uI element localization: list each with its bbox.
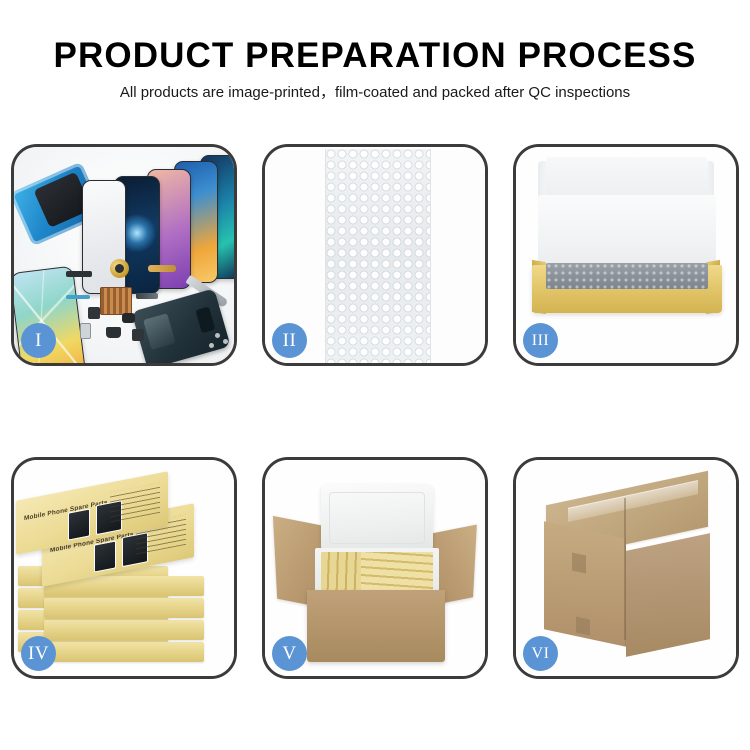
spare-part-screw-2	[223, 339, 228, 344]
spare-part-strip	[66, 271, 92, 277]
process-step-card-2[interactable]: II	[262, 144, 488, 366]
process-step-card-3[interactable]: III	[513, 144, 739, 366]
carton-mark-upper	[572, 553, 586, 574]
spare-part-coil	[110, 259, 129, 278]
spare-part-flex-cable	[148, 265, 176, 272]
box-lid-front	[538, 195, 716, 273]
carton-side-face	[626, 533, 710, 657]
step-badge-1: I	[21, 323, 56, 358]
spare-part-camera	[122, 313, 135, 323]
gray-foam-padding	[546, 263, 708, 289]
carton-body	[307, 590, 445, 662]
foam-lid	[321, 484, 433, 552]
box-art-thumbnail	[68, 508, 90, 540]
step-badge-5: V	[272, 636, 307, 671]
spare-part-button-2	[132, 329, 144, 341]
step-badge-2: II	[272, 323, 307, 358]
process-step-card-1[interactable]: I	[11, 144, 237, 366]
box-spec-text-lines	[110, 483, 160, 523]
page-title: PRODUCT PREPARATION PROCESS	[0, 36, 750, 76]
yellow-boxes-row-b	[361, 552, 433, 590]
spare-part-speaker	[106, 327, 121, 338]
process-step-card-5[interactable]: V	[262, 457, 488, 679]
spare-part-connector-flex	[136, 293, 158, 299]
phone-back-housing	[131, 288, 230, 363]
carton-corner-seam	[624, 498, 626, 640]
spare-part-ribbon-cable	[66, 295, 90, 299]
spare-part-chip-grid	[100, 287, 132, 315]
carton-mark-lower	[576, 617, 590, 636]
step-badge-3: III	[523, 323, 558, 358]
process-step-card-6[interactable]: VI	[513, 457, 739, 679]
spare-part-screw-3	[209, 343, 214, 348]
spare-part-sim-tray	[80, 323, 91, 339]
page-subtitle: All products are image-printed，film-coat…	[0, 84, 750, 102]
step-badge-4: IV	[21, 636, 56, 671]
page-header: PRODUCT PREPARATION PROCESS All products…	[0, 0, 750, 128]
bubble-wrap-bag	[325, 149, 431, 363]
bubble-texture	[326, 149, 430, 363]
retail-box-slab	[44, 620, 204, 640]
process-step-grid: I II	[11, 144, 739, 684]
box-art-thumbnail	[94, 540, 116, 572]
retail-box-slab	[44, 642, 204, 662]
step-badge-6: VI	[523, 636, 558, 671]
spare-part-button	[88, 307, 100, 319]
spare-part-screw-1	[215, 333, 220, 338]
process-step-card-4[interactable]: Mobile Phone Spare Parts Mobile Phone Sp…	[11, 457, 237, 679]
retail-box-slab	[44, 598, 204, 618]
